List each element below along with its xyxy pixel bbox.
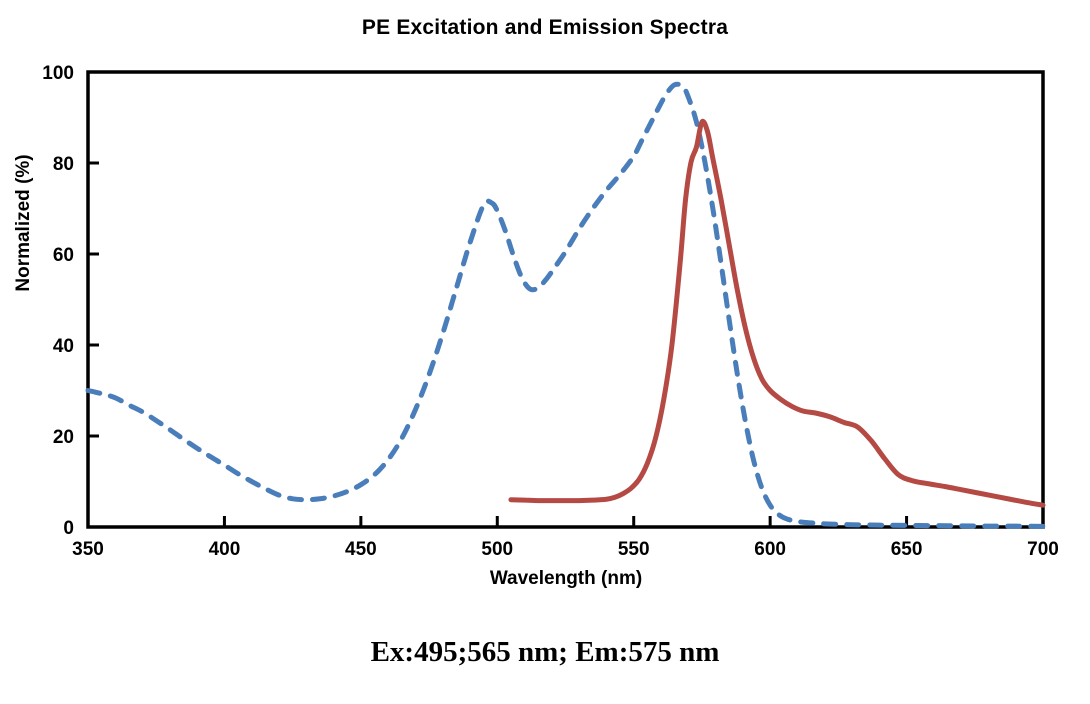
x-tick-label: 550 (618, 539, 650, 560)
x-tick-label: 500 (481, 539, 513, 560)
y-tick-label: 80 (53, 154, 74, 175)
spectra-plot: 350400450500550600650700 020406080100 (0, 0, 1090, 704)
x-tick-label: 600 (754, 539, 786, 560)
y-tick-label: 40 (53, 336, 74, 357)
series-layer (88, 84, 1043, 526)
figure-caption: Ex:495;565 nm; Em:575 nm (0, 636, 1090, 669)
figure-container: PE Excitation and Emission Spectra Norma… (0, 0, 1090, 704)
series-line-emission (511, 121, 1043, 505)
x-tick-label: 450 (345, 539, 377, 560)
x-tick-label: 400 (209, 539, 241, 560)
y-axis-ticks: 020406080100 (42, 63, 99, 539)
x-tick-label: 700 (1027, 539, 1059, 560)
y-tick-label: 0 (63, 518, 74, 539)
x-tick-label: 650 (891, 539, 923, 560)
x-axis-ticks: 350400450500550600650700 (72, 516, 1059, 560)
y-tick-label: 20 (53, 427, 74, 448)
x-tick-label: 350 (72, 539, 104, 560)
series-line-excitation (88, 84, 1043, 526)
plot-frame (88, 72, 1043, 527)
y-tick-label: 60 (53, 245, 74, 266)
y-tick-label: 100 (42, 63, 74, 84)
